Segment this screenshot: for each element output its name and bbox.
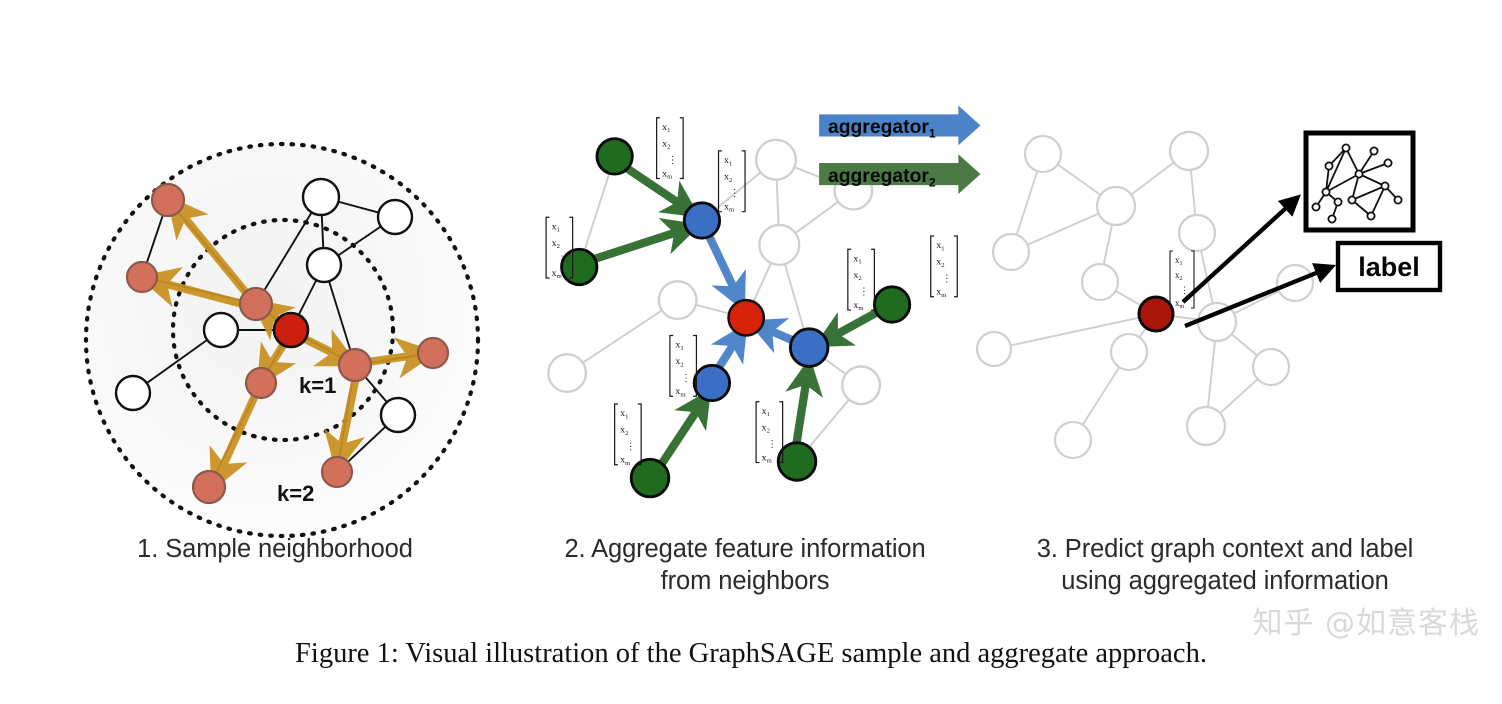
graph-node[interactable] bbox=[1111, 334, 1147, 370]
graph-node[interactable] bbox=[659, 281, 697, 319]
graph-node[interactable] bbox=[378, 200, 412, 234]
svg-text:x1: x1 bbox=[552, 221, 560, 233]
svg-text:⋮: ⋮ bbox=[668, 155, 678, 166]
target-node[interactable] bbox=[728, 300, 763, 335]
caption-line: 2. Aggregate feature information bbox=[505, 533, 985, 565]
graph-node[interactable] bbox=[1253, 349, 1289, 385]
graph-node[interactable] bbox=[1187, 407, 1225, 445]
svg-text:x2: x2 bbox=[1175, 270, 1183, 282]
svg-text:⋮: ⋮ bbox=[1180, 285, 1189, 295]
sampled-node[interactable] bbox=[418, 338, 448, 368]
svg-text:x1: x1 bbox=[762, 406, 770, 418]
svg-text:x2: x2 bbox=[853, 270, 861, 282]
graph-node[interactable] bbox=[548, 354, 586, 392]
graph-node[interactable] bbox=[1025, 136, 1061, 172]
panel-aggregate-features: x1 x2 ⋮ xm x1 x2 ⋮ xm x1 x2 bbox=[520, 110, 990, 530]
graph-node[interactable] bbox=[116, 376, 150, 410]
svg-text:x2: x2 bbox=[552, 238, 560, 250]
label-box-text: label bbox=[1358, 252, 1420, 282]
panel-sample-neighborhood: k=1 k=2 bbox=[45, 110, 515, 530]
depth2-node[interactable] bbox=[874, 287, 909, 322]
sampled-node[interactable] bbox=[322, 457, 352, 487]
svg-text:x1: x1 bbox=[724, 155, 732, 167]
svg-text:⋮: ⋮ bbox=[626, 441, 636, 452]
feature-vector: x1 x2 ⋮ xm bbox=[1170, 251, 1194, 310]
svg-text:xm: xm bbox=[662, 168, 673, 180]
graph-context-thumbnail[interactable] bbox=[1306, 133, 1413, 230]
depth1-node[interactable] bbox=[694, 365, 729, 400]
depth2-node[interactable] bbox=[778, 443, 816, 481]
svg-text:⋮: ⋮ bbox=[942, 273, 952, 284]
svg-text:⋮: ⋮ bbox=[859, 287, 869, 298]
target-node[interactable] bbox=[274, 313, 308, 347]
sampled-node[interactable] bbox=[193, 471, 225, 503]
ring-label-k1: k=1 bbox=[299, 373, 336, 398]
feature-vector: x1 x2 ⋮ xm bbox=[670, 335, 697, 398]
caption-line: 1. Sample neighborhood bbox=[40, 533, 510, 565]
legend-aggregator-1-label: aggregator1 bbox=[828, 116, 936, 140]
caption-panel-1: 1. Sample neighborhood bbox=[40, 533, 510, 565]
caption-panel-2: 2. Aggregate feature information from ne… bbox=[505, 533, 985, 597]
feature-vector: x1 x2 ⋮ xm bbox=[615, 404, 642, 467]
svg-text:xm: xm bbox=[762, 452, 773, 464]
graph-node[interactable] bbox=[303, 179, 339, 215]
watermark: 知乎 @如意客栈 bbox=[1252, 598, 1480, 642]
svg-text:x2: x2 bbox=[936, 257, 944, 269]
svg-text:x1: x1 bbox=[675, 340, 683, 352]
panel-3-edges bbox=[994, 151, 1295, 440]
graph-node[interactable] bbox=[1055, 422, 1091, 458]
sampled-node[interactable] bbox=[246, 368, 276, 398]
svg-text:x1: x1 bbox=[936, 240, 944, 252]
panel-2-svg: x1 x2 ⋮ xm x1 x2 ⋮ xm x1 x2 bbox=[520, 110, 990, 530]
svg-text:xm: xm bbox=[724, 201, 735, 213]
legend-aggregator-2-label: aggregator2 bbox=[828, 165, 936, 189]
depth2-node[interactable] bbox=[597, 139, 632, 174]
graph-node[interactable] bbox=[977, 332, 1011, 366]
sampled-node[interactable] bbox=[152, 184, 184, 216]
svg-text:x1: x1 bbox=[853, 253, 861, 265]
svg-text:x1: x1 bbox=[1175, 255, 1183, 267]
caption-line: 3. Predict graph context and label bbox=[975, 533, 1475, 565]
legend-aggregator-1[interactable]: aggregator1 bbox=[819, 106, 980, 146]
label-box[interactable]: label bbox=[1338, 243, 1440, 290]
graph-node[interactable] bbox=[204, 313, 238, 347]
graph-node[interactable] bbox=[993, 234, 1029, 270]
caption-panel-3: 3. Predict graph context and label using… bbox=[975, 533, 1475, 597]
svg-text:x1: x1 bbox=[620, 408, 628, 420]
svg-text:x2: x2 bbox=[762, 423, 770, 435]
graph-node[interactable] bbox=[1179, 215, 1215, 251]
svg-text:⋮: ⋮ bbox=[767, 439, 777, 450]
svg-text:x2: x2 bbox=[662, 138, 670, 150]
graph-node[interactable] bbox=[756, 140, 796, 180]
figure-caption: Figure 1: Visual illustration of the Gra… bbox=[0, 638, 1502, 670]
graph-node[interactable] bbox=[842, 366, 880, 404]
graph-node[interactable] bbox=[381, 398, 415, 432]
graph-node[interactable] bbox=[307, 248, 341, 282]
figure-root: k=1 k=2 bbox=[0, 0, 1502, 704]
graph-node[interactable] bbox=[1170, 132, 1208, 170]
panel-3-svg: x1 x2 ⋮ xm bbox=[985, 110, 1455, 530]
panel-1-svg: k=1 k=2 bbox=[45, 110, 515, 530]
svg-text:xm: xm bbox=[936, 287, 947, 299]
sampled-node[interactable] bbox=[127, 262, 157, 292]
svg-text:xm: xm bbox=[853, 300, 864, 312]
caption-line: using aggregated information bbox=[975, 565, 1475, 597]
feature-vector: x1 x2 ⋮ xm bbox=[931, 236, 958, 299]
svg-text:x2: x2 bbox=[620, 425, 628, 437]
svg-text:x2: x2 bbox=[675, 356, 683, 368]
graph-node[interactable] bbox=[1097, 187, 1135, 225]
feature-vector: x1 x2 ⋮ xm bbox=[848, 249, 875, 312]
svg-text:x2: x2 bbox=[724, 172, 732, 184]
caption-line: from neighbors bbox=[505, 565, 985, 597]
graph-node[interactable] bbox=[759, 225, 799, 265]
ring-label-k2: k=2 bbox=[277, 481, 314, 506]
svg-text:⋮: ⋮ bbox=[557, 255, 567, 266]
svg-text:⋮: ⋮ bbox=[730, 188, 740, 199]
svg-text:x1: x1 bbox=[662, 122, 670, 134]
aggregator-legend: aggregator1 aggregator2 bbox=[819, 106, 980, 194]
sampled-node[interactable] bbox=[240, 288, 272, 320]
feature-vector: x1 x2 ⋮ xm bbox=[657, 118, 684, 181]
svg-text:xm: xm bbox=[675, 386, 686, 398]
depth1-node[interactable] bbox=[684, 203, 719, 238]
svg-text:xm: xm bbox=[620, 455, 631, 467]
svg-text:⋮: ⋮ bbox=[681, 373, 691, 384]
target-node[interactable] bbox=[1139, 297, 1173, 331]
depth2-node[interactable] bbox=[631, 459, 669, 497]
graph-node[interactable] bbox=[1082, 264, 1118, 300]
panel-predict-context-label: x1 x2 ⋮ xm bbox=[985, 110, 1455, 530]
depth1-node[interactable] bbox=[790, 329, 828, 367]
sampled-node[interactable] bbox=[339, 349, 371, 381]
